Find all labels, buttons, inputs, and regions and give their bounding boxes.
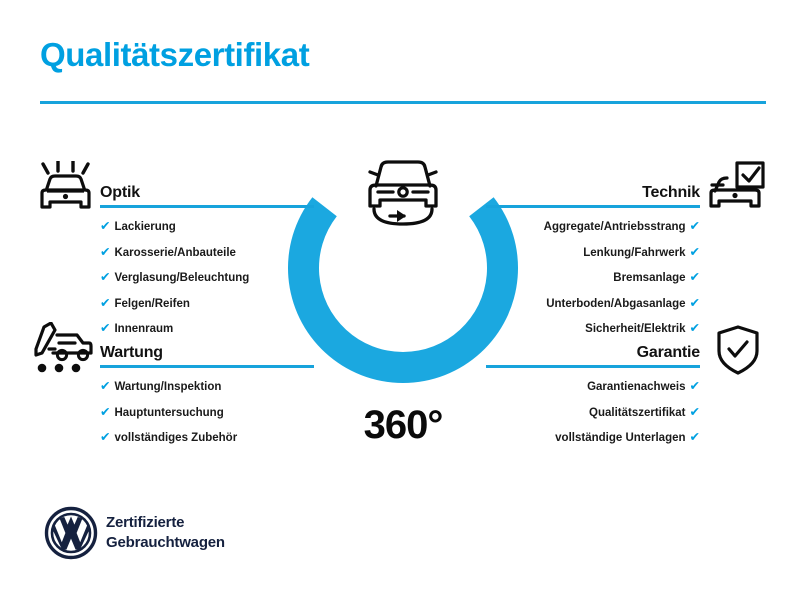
- 360-check-badge: Gebrauchtwagen-Check 360°: [288, 148, 518, 388]
- volkswagen-logo: [44, 506, 98, 565]
- header-divider: [40, 101, 766, 104]
- logo-wordmark: Zertifizierte Gebrauchtwagen: [106, 513, 225, 554]
- list-item: ✔Innenraum: [100, 322, 314, 336]
- section-divider: [486, 365, 700, 368]
- badge-degrees: 360°: [288, 403, 518, 448]
- checklist: Aggregate/Antriebsstrang✔ Lenkung/Fahrwe…: [486, 220, 700, 336]
- car-service-pen-icon: [31, 322, 93, 383]
- shield-check-icon: [716, 325, 760, 380]
- section-divider: [486, 205, 700, 208]
- logo-line-1: Zertifizierte: [106, 513, 225, 533]
- check-icon: ✔: [100, 270, 110, 284]
- checklist: ✔Wartung/Inspektion ✔Hauptuntersuchung ✔…: [100, 380, 314, 445]
- list-item: Qualitätszertifikat✔: [486, 406, 700, 420]
- list-item: ✔Hauptuntersuchung: [100, 406, 314, 420]
- list-item-label: Hauptuntersuchung: [114, 407, 223, 419]
- list-item-label: Qualitätszertifikat: [589, 407, 686, 419]
- check-icon: ✔: [100, 321, 110, 335]
- section-divider: [100, 365, 314, 368]
- section-optik: Optik ✔Lackierung ✔Karosserie/Anbauteile…: [100, 178, 314, 336]
- list-item: ✔Lackierung: [100, 220, 314, 234]
- section-title: Optik: [100, 184, 140, 202]
- list-item: ✔Verglasung/Beleuchtung: [100, 271, 314, 285]
- check-icon: ✔: [100, 379, 110, 393]
- car-checkbox-icon: [707, 161, 765, 218]
- section-garantie: Garantie Garantienachweis✔ Qualitätszert…: [486, 338, 700, 445]
- list-item-label: Karosserie/Anbauteile: [114, 247, 235, 259]
- list-item-label: Verglasung/Beleuchtung: [114, 272, 249, 284]
- list-item: Bremsanlage✔: [486, 271, 700, 285]
- check-icon: ✔: [690, 430, 700, 444]
- list-item: vollständige Unterlagen✔: [486, 431, 700, 445]
- list-item-label: Bremsanlage: [613, 272, 685, 284]
- checklist: Garantienachweis✔ Qualitätszertifikat✔ v…: [486, 380, 700, 445]
- list-item-label: vollständige Unterlagen: [555, 432, 685, 444]
- check-icon: ✔: [100, 219, 110, 233]
- list-item-label: Unterboden/Abgasanlage: [546, 298, 685, 310]
- list-item: ✔Karosserie/Anbauteile: [100, 246, 314, 260]
- check-icon: ✔: [690, 405, 700, 419]
- list-item: ✔vollständiges Zubehör: [100, 431, 314, 445]
- section-technik: Technik Aggregate/Antriebsstrang✔ Lenkun…: [486, 178, 700, 336]
- list-item-label: vollständiges Zubehör: [114, 432, 237, 444]
- check-icon: ✔: [690, 245, 700, 259]
- section-title: Garantie: [637, 344, 700, 362]
- list-item-label: Sicherheit/Elektrik: [585, 323, 685, 335]
- list-item-label: Lenkung/Fahrwerk: [583, 247, 685, 259]
- logo-line-2: Gebrauchtwagen: [106, 533, 225, 553]
- list-item-label: Garantienachweis: [587, 381, 685, 393]
- check-icon: ✔: [690, 270, 700, 284]
- check-icon: ✔: [100, 430, 110, 444]
- check-icon: ✔: [690, 321, 700, 335]
- check-icon: ✔: [100, 405, 110, 419]
- list-item: Aggregate/Antriebsstrang✔: [486, 220, 700, 234]
- car-rotation-icon: [352, 148, 454, 234]
- list-item-label: Wartung/Inspektion: [114, 381, 221, 393]
- list-item: Garantienachweis✔: [486, 380, 700, 394]
- page-title: Qualitätszertifikat: [40, 38, 309, 71]
- list-item: Unterboden/Abgasanlage✔: [486, 297, 700, 311]
- section-header: Optik: [100, 178, 314, 208]
- section-header: Garantie: [486, 338, 700, 368]
- check-icon: ✔: [100, 245, 110, 259]
- section-header: Wartung: [100, 338, 314, 368]
- check-icon: ✔: [690, 296, 700, 310]
- list-item-label: Innenraum: [114, 323, 173, 335]
- car-shine-icon: [34, 161, 92, 218]
- section-title: Technik: [642, 184, 700, 202]
- list-item-label: Felgen/Reifen: [114, 298, 189, 310]
- list-item: ✔Felgen/Reifen: [100, 297, 314, 311]
- section-header: Technik: [486, 178, 700, 208]
- list-item-label: Aggregate/Antriebsstrang: [544, 221, 686, 233]
- checklist: ✔Lackierung ✔Karosserie/Anbauteile ✔Verg…: [100, 220, 314, 336]
- certificate-page: Qualitätszertifikat: [0, 0, 800, 600]
- list-item: Lenkung/Fahrwerk✔: [486, 246, 700, 260]
- check-icon: ✔: [100, 296, 110, 310]
- check-icon: ✔: [690, 379, 700, 393]
- section-title: Wartung: [100, 344, 163, 362]
- check-icon: ✔: [690, 219, 700, 233]
- list-item: Sicherheit/Elektrik✔: [486, 322, 700, 336]
- section-wartung: Wartung ✔Wartung/Inspektion ✔Hauptunters…: [100, 338, 314, 445]
- list-item-label: Lackierung: [114, 221, 175, 233]
- list-item: ✔Wartung/Inspektion: [100, 380, 314, 394]
- section-divider: [100, 205, 314, 208]
